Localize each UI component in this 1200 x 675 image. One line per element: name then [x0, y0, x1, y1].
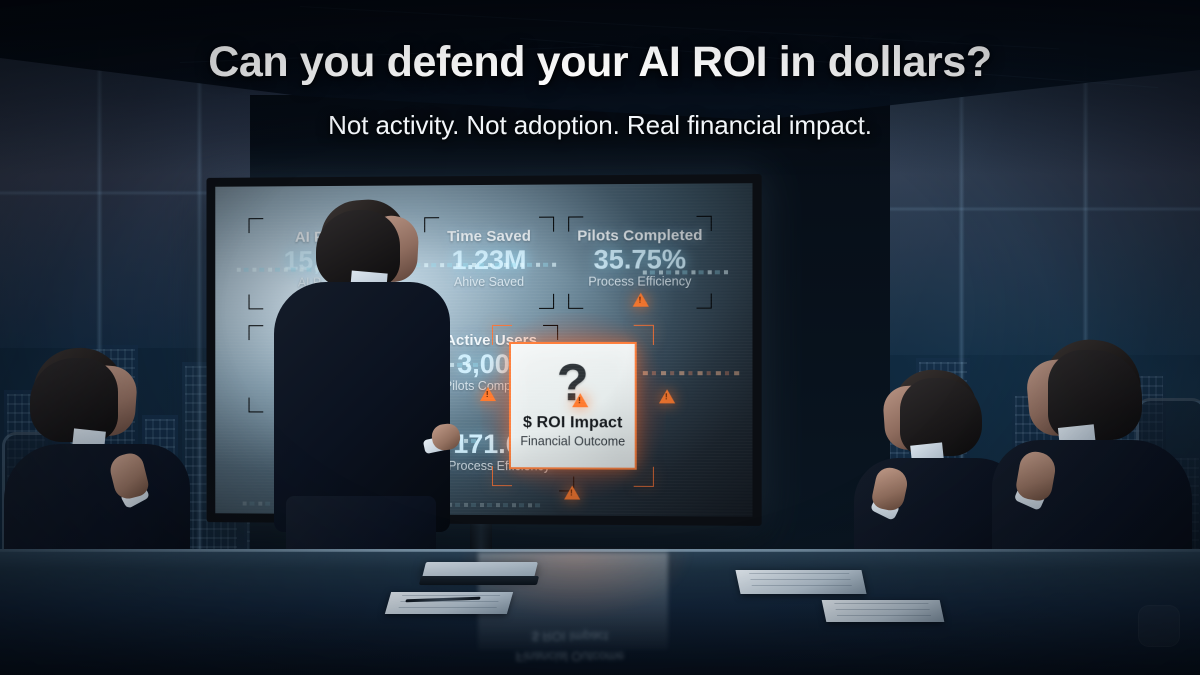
document-left[interactable] — [385, 592, 513, 614]
headline-scrim — [0, 0, 1200, 175]
watermark-badge — [1138, 605, 1180, 647]
presenter-torso — [274, 282, 450, 532]
laptop-base — [419, 576, 539, 585]
page-title: Can you defend your AI ROI in dollars? — [0, 38, 1200, 87]
reflection-subtitle: Financial Outcome — [420, 647, 720, 667]
document-lines — [749, 573, 854, 591]
document-lines — [834, 603, 932, 620]
page-subtitle: Not activity. Not adoption. Real financi… — [0, 110, 1200, 141]
document-far-right[interactable] — [822, 600, 945, 622]
reflection-title: $ ROI Impact — [420, 627, 720, 647]
document-right[interactable] — [735, 570, 866, 594]
poster-canvas: AI P 15,0 AI P Time Saved 1.23M Ahive Sa… — [0, 0, 1200, 675]
